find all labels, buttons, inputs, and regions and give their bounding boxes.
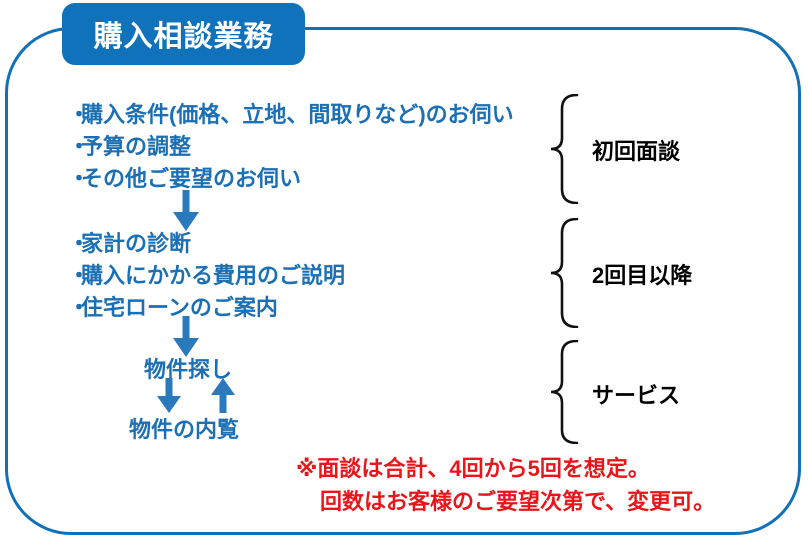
bullet-group-second-onwards: ・家計の診断 ・購入にかかる費用のご説明 ・住宅ローンのご案内	[68, 228, 345, 324]
list-item-label: 予算の調整	[81, 134, 191, 159]
list-item: ・購入条件(価格、立地、間取りなど)のお伺い	[68, 99, 514, 131]
bullet-mark: ・	[68, 131, 81, 163]
cycle-label-property-viewing: 物件の内覧	[129, 412, 239, 444]
arrow-up-to-search-icon	[206, 378, 240, 414]
list-item: ・その他ご要望のお伺い	[68, 163, 514, 195]
list-item: ・予算の調整	[68, 131, 514, 163]
list-item-label: 家計の診断	[81, 231, 191, 256]
arrow-down-to-viewing-icon	[152, 378, 186, 414]
brace-label-second-onwards: 2回目以降	[592, 258, 692, 290]
note-line-2: 回数はお客様のご要望次第で、変更可。	[296, 485, 715, 518]
list-item: ・住宅ローンのご案内	[68, 292, 345, 324]
bullet-mark: ・	[68, 99, 81, 131]
brace-label-service: サービス	[592, 378, 680, 410]
bullet-group-first-interview: ・購入条件(価格、立地、間取りなど)のお伺い ・予算の調整 ・その他ご要望のお伺…	[68, 99, 514, 195]
brace-second-onwards-icon	[550, 218, 584, 328]
list-item: ・家計の診断	[68, 228, 345, 260]
brace-service-icon	[550, 340, 584, 444]
brace-label-first-interview: 初回面談	[592, 134, 680, 166]
note-text: ※面談は合計、4回から5回を想定。 回数はお客様のご要望次第で、変更可。	[296, 452, 715, 518]
list-item: ・購入にかかる費用のご説明	[68, 260, 345, 292]
bullet-mark: ・	[68, 163, 81, 195]
list-item-label: 購入条件(価格、立地、間取りなど)のお伺い	[81, 102, 514, 127]
diagram-canvas: 購入相談業務 ・購入条件(価格、立地、間取りなど)のお伺い ・予算の調整 ・その…	[0, 0, 808, 542]
brace-first-interview-icon	[550, 94, 584, 204]
bullet-mark: ・	[68, 260, 81, 292]
list-item-label: その他ご要望のお伺い	[81, 166, 301, 191]
title-badge: 購入相談業務	[62, 3, 305, 65]
note-line-1: ※面談は合計、4回から5回を想定。	[296, 452, 715, 485]
bullet-mark: ・	[68, 292, 81, 324]
bullet-mark: ・	[68, 228, 81, 260]
list-item-label: 購入にかかる費用のご説明	[81, 263, 345, 288]
arrow-group1-to-group2-icon	[168, 190, 204, 232]
